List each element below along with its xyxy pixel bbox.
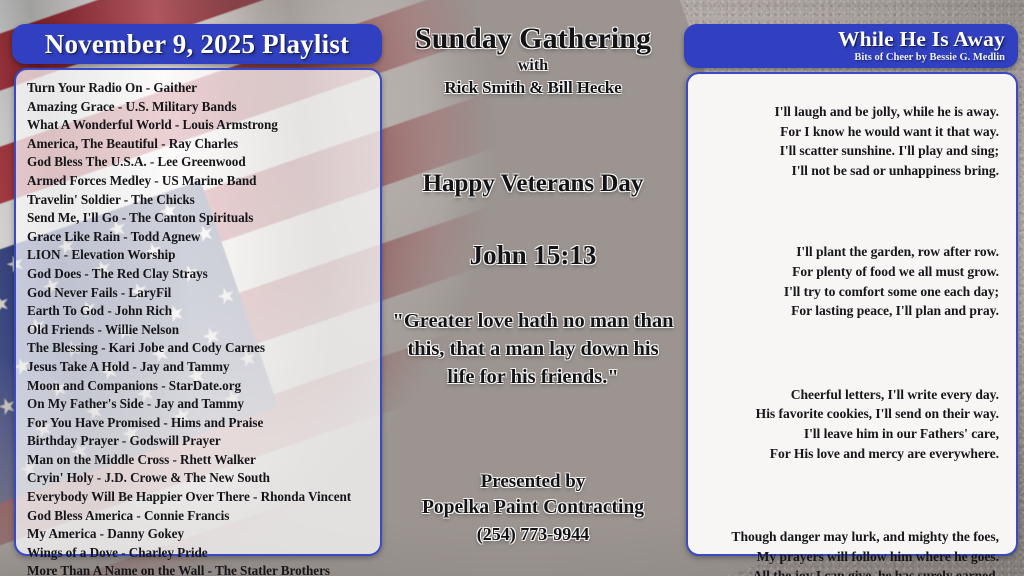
- poem-line: For I know he would want it that way.: [703, 122, 999, 142]
- playlist-item: Send Me, I'll Go - The Canton Spirituals: [27, 209, 380, 228]
- center-column: Sunday Gathering with Rick Smith & Bill …: [386, 22, 680, 562]
- slide-canvas: ★★★★★★★★★★★★★★★★★★★★★★★★★★★★★★★★★★★★★★★★…: [0, 0, 1024, 576]
- poem-subtitle: Bits of Cheer by Bessie G. Medlin: [854, 51, 1005, 65]
- playlist-item: Travelin' Soldier - The Chicks: [27, 191, 380, 210]
- with-label: with: [386, 57, 680, 75]
- playlist-header-bar: November 9, 2025 Playlist: [12, 24, 382, 64]
- playlist-item: God Bless The U.S.A. - Lee Greenwood: [27, 153, 380, 172]
- occasion-heading: Happy Veterans Day: [386, 170, 680, 198]
- poem-line: I'll scatter sunshine. I'll play and sin…: [703, 141, 999, 161]
- poem-line: My prayers will follow him where he goes…: [703, 547, 999, 567]
- program-title: Sunday Gathering: [386, 22, 680, 56]
- playlist-item: Everybody Will Be Happier Over There - R…: [27, 488, 380, 507]
- poem-line: Cheerful letters, I'll write every day.: [703, 385, 999, 405]
- host-names: Rick Smith & Bill Hecke: [386, 78, 680, 98]
- scripture-text: "Greater love hath no man than this, tha…: [386, 307, 680, 391]
- poem-stanza: Though danger may lurk, and mighty the f…: [703, 527, 999, 576]
- playlist-item: Jesus Take A Hold - Jay and Tammy: [27, 358, 380, 377]
- poem-panel: I'll laugh and be jolly, while he is awa…: [686, 72, 1018, 556]
- playlist-item: Earth To God - John Rich: [27, 302, 380, 321]
- poem-header-bar: While He Is Away Bits of Cheer by Bessie…: [684, 24, 1018, 68]
- playlist-item: America, The Beautiful - Ray Charles: [27, 135, 380, 154]
- poem-line: For plenty of food we all must grow.: [703, 262, 999, 282]
- playlist-item: The Blessing - Kari Jobe and Cody Carnes: [27, 339, 380, 358]
- playlist-item: On My Father's Side - Jay and Tammy: [27, 395, 380, 414]
- poem-stanza: I'll plant the garden, row after row.For…: [703, 242, 999, 320]
- playlist-item: My America - Danny Gokey: [27, 525, 380, 544]
- poem-line: For His love and mercy are everywhere.: [703, 444, 999, 464]
- playlist-item: For You Have Promised - Hims and Praise: [27, 414, 380, 433]
- playlist-item: Armed Forces Medley - US Marine Band: [27, 172, 380, 191]
- playlist-item: Moon and Companions - StarDate.org: [27, 377, 380, 396]
- poem-stanza: I'll laugh and be jolly, while he is awa…: [703, 102, 999, 180]
- poem-line: I'll try to comfort some one each day;: [703, 282, 999, 302]
- playlist-item: God Does - The Red Clay Strays: [27, 265, 380, 284]
- playlist-item: Turn Your Radio On - Gaither: [27, 79, 380, 98]
- playlist-title: November 9, 2025 Playlist: [45, 29, 349, 60]
- presented-by-label: Presented by: [386, 469, 680, 495]
- playlist-item: Birthday Prayer - Godswill Prayer: [27, 432, 380, 451]
- poem-line: All the joy I can give, he has surely ea…: [703, 566, 999, 576]
- playlist-item: Amazing Grace - U.S. Military Bands: [27, 98, 380, 117]
- playlist-item: Wings of a Dove - Charley Pride: [27, 544, 380, 563]
- playlist-item: Man on the Middle Cross - Rhett Walker: [27, 451, 380, 470]
- playlist-item: Cryin' Holy - J.D. Crowe & The New South: [27, 469, 380, 488]
- poem-line: For lasting peace, I'll plan and pray.: [703, 301, 999, 321]
- playlist-list: Turn Your Radio On - GaitherAmazing Grac…: [27, 79, 380, 576]
- poem-line: I'll laugh and be jolly, while he is awa…: [703, 102, 999, 122]
- playlist-item: LION - Elevation Worship: [27, 246, 380, 265]
- sponsor-phone: (254) 773-9944: [386, 521, 680, 547]
- poem-line: I'll leave him in our Fathers' care,: [703, 424, 999, 444]
- playlist-item: God Bless America - Connie Francis: [27, 507, 380, 526]
- poem-line: His favorite cookies, I'll send on their…: [703, 404, 999, 424]
- playlist-item: What A Wonderful World - Louis Armstrong: [27, 116, 380, 135]
- playlist-item: God Never Fails - LaryFil: [27, 284, 380, 303]
- playlist-item: More Than A Name on the Wall - The Statl…: [27, 562, 380, 576]
- sponsor-name: Popelka Paint Contracting: [386, 495, 680, 521]
- playlist-panel: Turn Your Radio On - GaitherAmazing Grac…: [14, 68, 382, 556]
- scripture-reference: John 15:13: [386, 240, 680, 271]
- playlist-item: Grace Like Rain - Todd Agnew: [27, 228, 380, 247]
- poem-line: Though danger may lurk, and mighty the f…: [703, 527, 999, 547]
- poem-line: I'll plant the garden, row after row.: [703, 242, 999, 262]
- playlist-item: Old Friends - Willie Nelson: [27, 321, 380, 340]
- poem-stanza: Cheerful letters, I'll write every day.H…: [703, 385, 999, 463]
- poem-title: While He Is Away: [838, 27, 1005, 51]
- poem-line: I'll not be sad or unhappiness bring.: [703, 161, 999, 181]
